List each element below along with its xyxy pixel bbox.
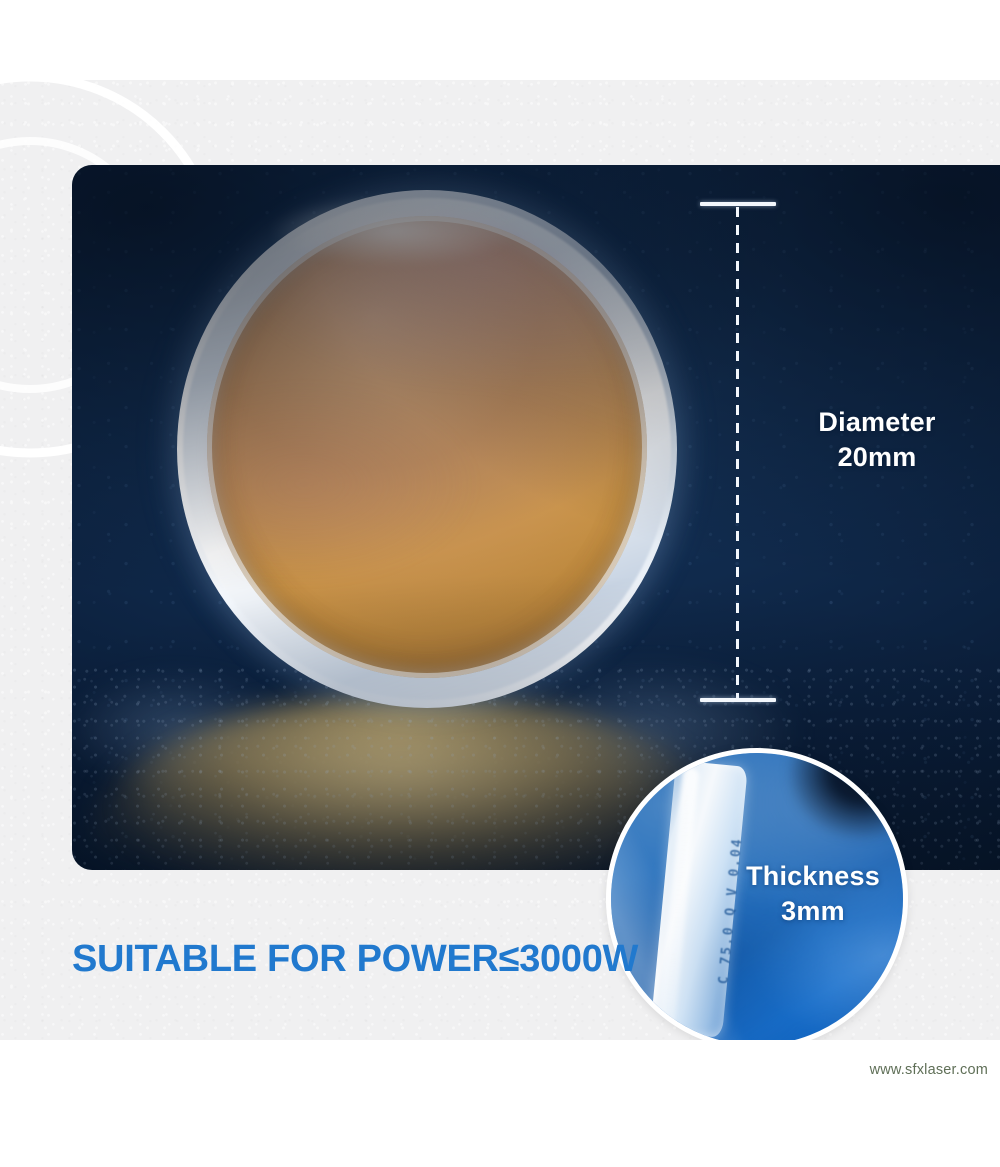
thickness-label-title: Thickness: [729, 859, 897, 894]
thickness-label-value: 3mm: [729, 894, 897, 929]
footer-bar: [0, 1040, 1000, 1167]
thickness-label: Thickness 3mm: [729, 859, 897, 929]
product-spec-banner: Diameter 20mm C 75.0 Q V 0.04 Thickness …: [0, 0, 1000, 1167]
thickness-inset-circle: C 75.0 Q V 0.04 Thickness 3mm: [606, 748, 908, 1050]
site-watermark: www.sfxlaser.com: [870, 1062, 988, 1078]
inset-dark-corner: [786, 748, 908, 841]
headline-text: SUITABLE FOR POWER≤3000W: [72, 938, 638, 981]
